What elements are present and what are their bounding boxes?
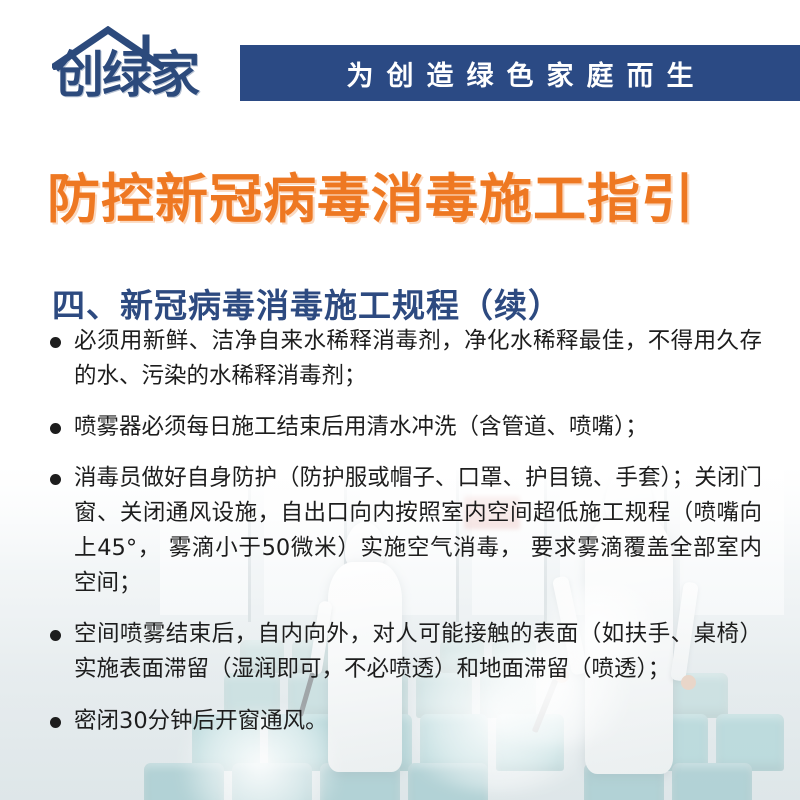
brand-logo[interactable]: 创绿家 xyxy=(46,24,236,102)
list-item: 消毒员做好自身防护（防护服或帽子、口罩、护目镜、手套）；关闭门窗、关闭通风设施，… xyxy=(46,461,762,601)
list-item-text: 必须用新鲜、洁净自来水稀释消毒剂，净化水稀释最佳，不得用久存的水、污染的水稀释消… xyxy=(74,328,762,389)
brand-logo-text: 创绿家 xyxy=(54,50,198,100)
list-item-text: 喷雾器必须每日施工结束后用清水冲洗（含管道、喷嘴）； xyxy=(74,414,648,440)
bullet-dot-icon xyxy=(50,717,61,728)
list-item: 空间喷雾结束后，自内向外，对人可能接触的表面（如扶手、桌椅）实施表面滞留（湿润即… xyxy=(46,617,762,687)
bullet-dot-icon xyxy=(50,474,61,485)
list-item: 必须用新鲜、洁净自来水稀释消毒剂，净化水稀释最佳，不得用久存的水、污染的水稀释消… xyxy=(46,324,762,394)
list-item-text: 密闭30分钟后开窗通风。 xyxy=(74,708,328,734)
bullet-dot-icon xyxy=(50,630,61,641)
bullet-dot-icon xyxy=(50,423,61,434)
list-item-text: 消毒员做好自身防护（防护服或帽子、口罩、护目镜、手套）；关闭门窗、关闭通风设施，… xyxy=(74,465,762,596)
list-item-text: 空间喷雾结束后，自内向外，对人可能接触的表面（如扶手、桌椅）实施表面滞留（湿润即… xyxy=(74,621,762,682)
poster-page: 创绿家 为创造绿色家庭而生 防控新冠病毒消毒施工指引 四、新冠病毒消毒施工规程（… xyxy=(0,0,800,800)
page-header: 创绿家 为创造绿色家庭而生 xyxy=(0,0,800,120)
bullet-dot-icon xyxy=(50,337,61,348)
page-title: 防控新冠病毒消毒施工指引 xyxy=(47,169,695,231)
list-item: 密闭30分钟后开窗通风。 xyxy=(46,704,762,739)
section-heading: 四、新冠病毒消毒施工规程（续） xyxy=(52,285,562,327)
guideline-list: 必须用新鲜、洁净自来水稀释消毒剂，净化水稀释最佳，不得用久存的水、污染的水稀释消… xyxy=(46,324,762,739)
list-item: 喷雾器必须每日施工结束后用清水冲洗（含管道、喷嘴）； xyxy=(46,410,762,445)
brand-slogan-banner: 为创造绿色家庭而生 xyxy=(240,45,800,101)
brand-slogan-text: 为创造绿色家庭而生 xyxy=(334,54,707,93)
